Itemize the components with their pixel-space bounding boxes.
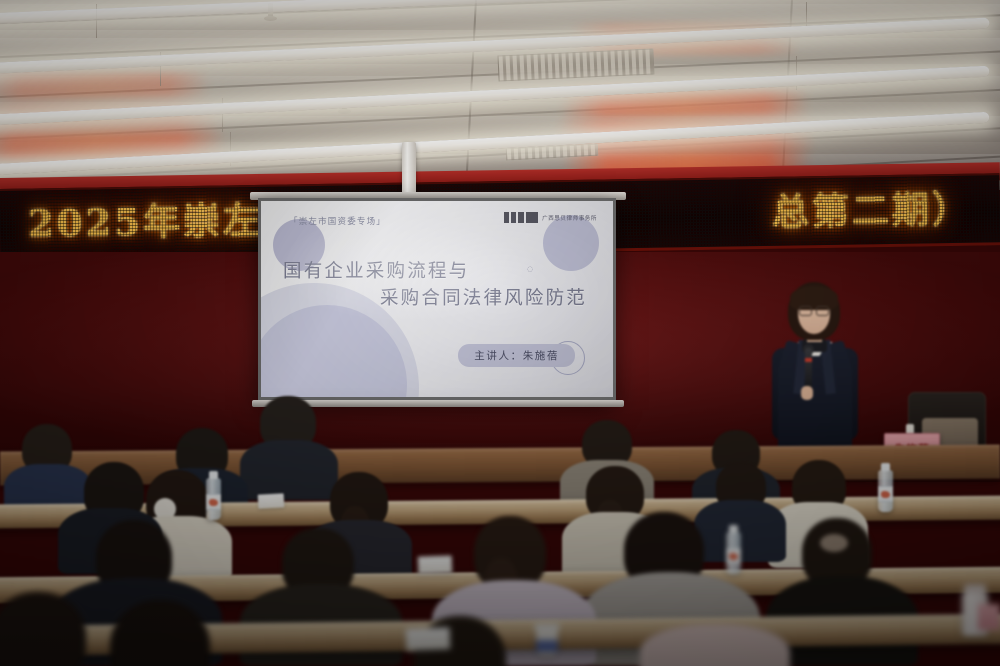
water-bottle	[878, 470, 893, 512]
law-firm-logo: 广西思贝律师事务所	[504, 212, 597, 223]
presenter	[760, 282, 872, 454]
lecture-hall-photo: 2025年崇左 总第二期） 「崇左市国资委专场」 广西思贝律师事务所 ◌ 国有	[0, 0, 1000, 666]
pink-card	[978, 604, 1000, 630]
led-banner-right-text: 总第二期）	[772, 191, 973, 231]
audience-body	[640, 624, 790, 666]
water-bottle	[726, 532, 741, 574]
hair-clip-icon	[820, 534, 848, 552]
ceiling	[0, 0, 1000, 190]
led-banner-left-text: 2025年崇左	[28, 202, 264, 243]
slide-speaker-badge: 主讲人：朱施蓓	[458, 344, 575, 367]
slide-title-line1: 国有企业采购流程与	[283, 261, 469, 282]
water-bottle	[206, 478, 221, 520]
paper-sheet	[258, 493, 285, 508]
paper-sheet	[406, 627, 451, 651]
logo-mark-icon	[504, 212, 538, 223]
presenter-glasses	[799, 306, 829, 314]
projection-screen: 「崇左市国资委专场」 广西思贝律师事务所 ◌ 国有企业采购流程与 采购合同法律风…	[258, 198, 616, 404]
audience-body	[240, 440, 338, 500]
paper-sheet	[418, 555, 453, 574]
drink-cup	[536, 628, 558, 656]
logo-firm-name: 广西思贝律师事务所	[542, 214, 597, 222]
presentation-slide: 「崇左市国资委专场」 广西思贝律师事务所 ◌ 国有企业采购流程与 采购合同法律风…	[261, 201, 613, 397]
slide-title: 国有企业采购流程与 采购合同法律风险防范	[261, 259, 613, 313]
wall-wainscot	[0, 445, 1000, 486]
slide-title-line2: 采购合同法律风险防范	[283, 286, 591, 313]
slide-kicker-label: 「崇左市国资委专场」	[289, 215, 386, 227]
